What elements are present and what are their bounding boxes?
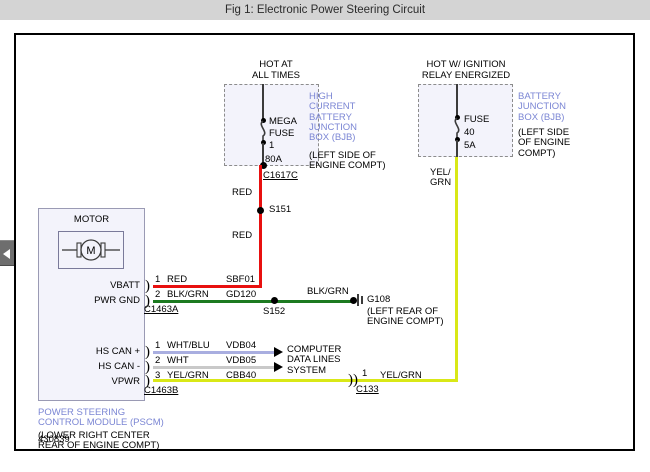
yelgrn-wire-label: YEL/ GRN (430, 168, 451, 189)
c1463a-pin-1: 1 (155, 275, 160, 285)
connector-c133-wire-color: YEL/GRN (380, 371, 422, 381)
ground-bar-2 (361, 296, 363, 304)
mega-fuse-label-2: FUSE (269, 129, 294, 139)
figure-title: Fig 1: Electronic Power Steering Circuit (0, 0, 650, 20)
hot-ignition-label-2: RELAY ENERGIZED (401, 71, 531, 81)
whtblu-data-wire (153, 351, 275, 354)
connector-c1463b-label: C1463B (144, 386, 178, 396)
motor-label: MOTOR (38, 215, 145, 225)
pin-label-pwr-gnd: PWR GND (66, 296, 140, 306)
c1463b-color-3: YEL/GRN (167, 371, 209, 381)
hot-at-all-times-label: HOT AT (231, 60, 321, 70)
c1463b-circuit-1: VDB04 (226, 341, 256, 351)
high-current-bjb-label: HIGH CURRENT BATTERY JUNCTION BOX (BJB) (309, 92, 357, 143)
pin-label-hs-can-minus: HS CAN - (66, 362, 140, 372)
ground-g108-label: G108 (367, 295, 390, 305)
bjb1-wire-top (262, 84, 264, 121)
c1463b-circuit-2: VDB05 (226, 356, 256, 366)
data-line-arrow-2-icon (274, 362, 283, 372)
fuse-40-number: 40 (464, 128, 475, 138)
high-current-bjb-location: (LEFT SIDE OF ENGINE COMPT) (309, 151, 386, 172)
c1463b-pin-3: 3 (155, 371, 160, 381)
fuse-40-rating: 5A (464, 141, 476, 151)
bjb2-wire-bottom (456, 140, 458, 157)
red-wire-label-upper: RED (232, 188, 252, 198)
data-line-arrow-1-icon (274, 347, 283, 357)
fuse-40-label: FUSE (464, 115, 489, 125)
ground-bar-1 (357, 294, 359, 306)
c1463a-circuit-2: GD120 (226, 290, 256, 300)
wht-data-wire (153, 366, 275, 369)
hot-at-all-times-label-2: ALL TIMES (231, 71, 321, 81)
blkgrn-ground-wire (153, 300, 353, 303)
c1463a-circuit-1: SBF01 (226, 275, 255, 285)
ground-terminal-dot (350, 297, 357, 304)
mega-fuse-label-1: MEGA (269, 117, 297, 127)
bjb-ignition-label-text: BATTERY JUNCTION BOX (BJB) (518, 92, 566, 123)
yelgrn-vertical-wire (455, 157, 458, 379)
splice-s151-label: S151 (269, 205, 291, 215)
ground-g108-location: (LEFT REAR OF ENGINE COMPT) (367, 307, 444, 328)
blkgrn-wire-label: BLK/GRN (307, 287, 349, 297)
connector-c1463a-bracket-1: ) (145, 279, 150, 294)
splice-s152-dot (271, 297, 278, 304)
computer-data-lines-label: COMPUTER DATA LINES SYSTEM (287, 345, 341, 376)
diagram-sheet: HOT AT ALL TIMES MEGA FUSE 1 80A C1617C … (0, 20, 650, 472)
c1463b-circuit-3: CBB40 (226, 371, 256, 381)
pin-label-hs-can-plus: HS CAN + (66, 347, 140, 357)
pin-label-vbatt: VBATT (76, 281, 140, 291)
hot-ignition-label: HOT W/ IGNITION (401, 60, 531, 70)
connector-c1617c-label: C1617C (263, 171, 298, 181)
previous-image-button[interactable] (0, 240, 14, 266)
c1463a-color-2: BLK/GRN (167, 290, 209, 300)
c1463b-color-1: WHT/BLU (167, 341, 210, 351)
connector-c1463b-bracket-1: ) (145, 345, 150, 360)
connector-c1463a-label: C1463A (144, 305, 178, 315)
c1463b-pin-2: 2 (155, 356, 160, 366)
mega-fuse-rating: 80A (265, 155, 282, 165)
svg-text:M: M (86, 245, 95, 257)
c1463a-color-1: RED (167, 275, 187, 285)
diagram-frame: HOT AT ALL TIMES MEGA FUSE 1 80A C1617C … (14, 33, 635, 451)
red-vertical-wire (259, 165, 262, 288)
triangle-left-icon (3, 249, 10, 259)
drawing-number: 430839 (38, 434, 70, 445)
splice-s151-dot (257, 207, 264, 214)
bjb2-wire-top (456, 84, 458, 117)
pin-label-vpwr: VPWR (66, 377, 140, 387)
motor-symbol: M (58, 231, 124, 269)
red-wire-label-lower: RED (232, 231, 252, 241)
splice-s152-label: S152 (263, 307, 285, 317)
c1463a-pin-2: 2 (155, 290, 160, 300)
mega-fuse-number: 1 (269, 141, 274, 151)
c1463b-color-2: WHT (167, 356, 189, 366)
pscm-name-label: POWER STEERING CONTROL MODULE (PSCM) (38, 408, 164, 429)
red-horizontal-wire (153, 285, 262, 288)
c1463b-pin-1: 1 (155, 341, 160, 351)
bjb-ignition-location: (LEFT SIDE OF ENGINE COMPT) (518, 128, 570, 159)
connector-c133-pin: 1 (362, 369, 367, 379)
connector-c133-label: C133 (356, 385, 379, 395)
